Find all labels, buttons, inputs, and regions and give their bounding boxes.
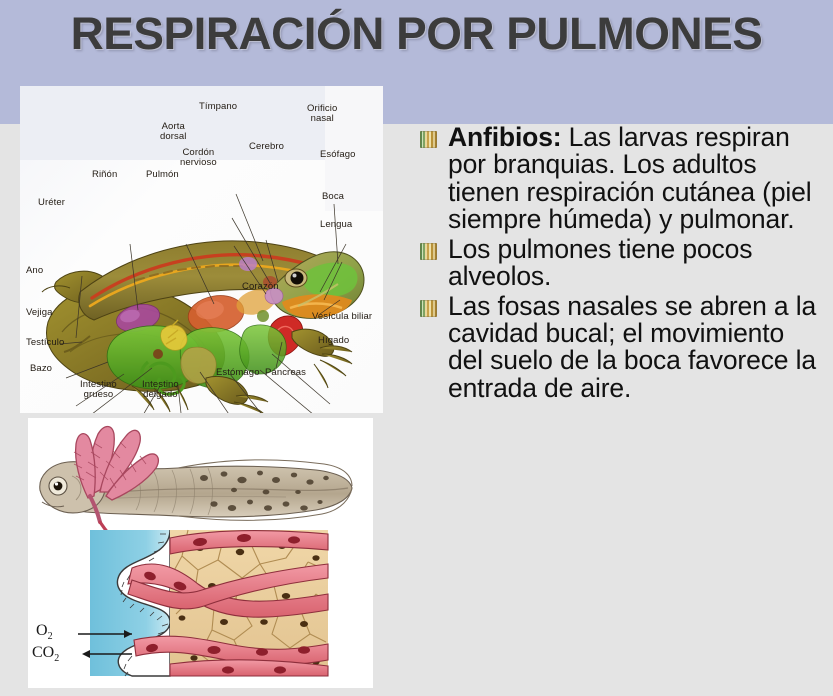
striped-square-bullet-icon — [420, 300, 437, 317]
page-title: RESPIRACIÓN POR PULMONES — [0, 8, 833, 60]
label-rinon: Riñón — [92, 170, 117, 180]
content-bullet-list: Anfibios: Las larvas respiran por branqu… — [420, 124, 825, 404]
frog-illustration — [20, 86, 383, 413]
label-boca: Boca — [322, 192, 344, 202]
label-pulmon: Pulmón — [146, 170, 179, 180]
frog-anatomy-figure: Tímpano Aortadorsal Orificionasal Cordón… — [20, 86, 383, 413]
bullet-text-alveoli: Los pulmones tiene pocos alveolos. — [448, 236, 825, 291]
label-ano: Ano — [26, 266, 43, 276]
list-item: Anfibios: Las larvas respiran por branqu… — [420, 124, 825, 234]
slide-canvas: RESPIRACIÓN POR PULMONES — [0, 0, 833, 696]
label-corazon: Corazón — [242, 282, 279, 292]
bullet-text-amphibians: Anfibios: Las larvas respiran por branqu… — [448, 124, 825, 234]
bullet-text-nostrils: Las fosas nasales se abren a la cavidad … — [448, 293, 825, 403]
label-pancreas: Páncreas — [265, 368, 306, 378]
label-timpano: Tímpano — [199, 102, 237, 112]
label-vesicula-biliar: Vesícula biliar — [312, 312, 372, 322]
label-estomago: Estómago — [216, 368, 260, 378]
label-bazo: Bazo — [30, 364, 52, 374]
bullet-lead-anfibios: Anfibios: — [448, 122, 561, 152]
list-item: Los pulmones tiene pocos alveolos. — [420, 236, 825, 291]
label-aorta-dorsal: Aortadorsal — [160, 122, 186, 142]
label-o2: O2 — [36, 622, 53, 642]
label-testiculo: Testículo — [26, 338, 64, 348]
striped-square-bullet-icon — [420, 243, 437, 260]
label-intestino-delgado: Intestinodelgado — [142, 380, 179, 400]
list-item: Las fosas nasales se abren a la cavidad … — [420, 293, 825, 403]
tadpole-illustration — [28, 418, 373, 688]
striped-square-bullet-icon — [420, 131, 437, 148]
label-cordon-nervioso: Cordónnervioso — [180, 148, 217, 168]
label-lengua: Lengua — [320, 220, 352, 230]
label-orificio-nasal: Orificionasal — [307, 104, 337, 124]
label-ureter: Uréter — [38, 198, 65, 208]
tadpole-gill-figure: O2 CO2 — [28, 418, 373, 688]
label-esofago: Esófago — [320, 150, 356, 160]
label-higado: Hígado — [318, 336, 349, 346]
label-cerebro: Cerebro — [249, 142, 284, 152]
label-intestino-grueso: Intestinogrueso — [80, 380, 117, 400]
label-co2: CO2 — [32, 644, 59, 664]
label-vejiga: Vejiga — [26, 308, 52, 318]
